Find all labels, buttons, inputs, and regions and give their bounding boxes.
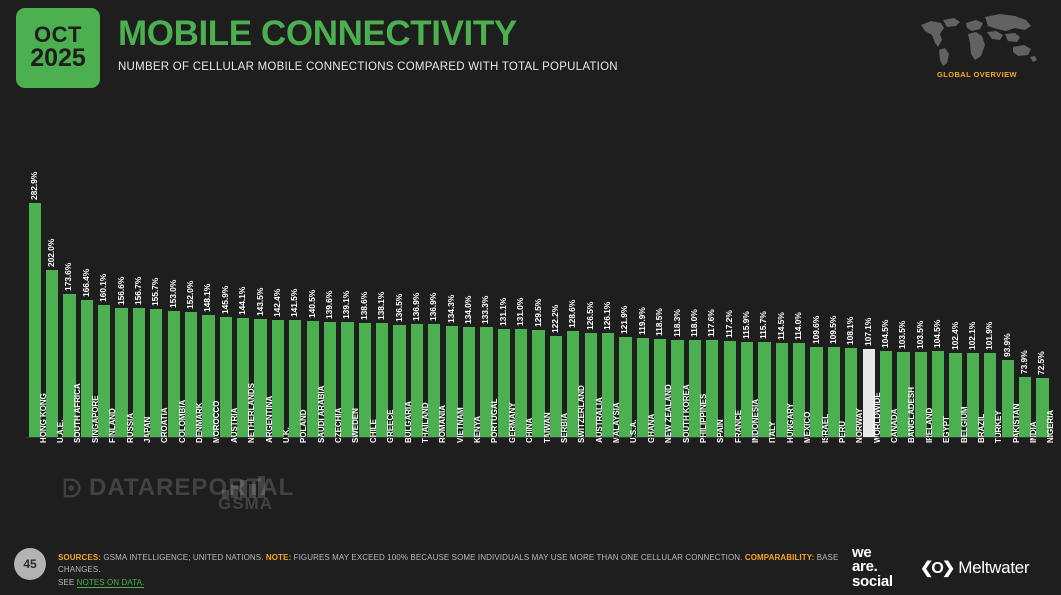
bar-value-label: 115.9% — [741, 311, 751, 339]
bar-slot: 93.9%PAKISTAN — [999, 118, 1016, 438]
bar-value-label: 103.5% — [915, 321, 925, 349]
bar-slot: 142.4%U.K. — [269, 118, 286, 438]
bar-slot: 143.5%ARGENTINA — [252, 118, 269, 438]
bar-slot: 138.1%GREECE — [374, 118, 391, 438]
datareportal-logo-icon — [62, 477, 84, 499]
bar-slot: 141.5%POLAND — [287, 118, 304, 438]
bar-value-label: 115.7% — [758, 311, 768, 339]
bar-value-label: 145.9% — [220, 285, 230, 313]
bar-value-label: 156.6% — [116, 277, 126, 305]
bar-slot: 118.5%NEW ZEALAND — [652, 118, 669, 438]
datareportal-watermark-text: DATAREPORTAL — [89, 474, 294, 502]
bar-value-label: 93.9% — [1002, 333, 1012, 357]
bar-value-label: 72.5% — [1036, 351, 1046, 375]
notes-on-data-link[interactable]: NOTES ON DATA. — [77, 578, 145, 588]
bar-slot: 104.5%EGYPT — [930, 118, 947, 438]
bar-slot: 118.3%SOUTH KOREA — [669, 118, 686, 438]
bar-slot: 114.5%HUNGARY — [773, 118, 790, 438]
bar-slot: 115.7%ITALY — [756, 118, 773, 438]
bar-value-label: 202.0% — [46, 239, 56, 267]
meltwater-mark-icon: ❮O❯ — [920, 558, 953, 578]
bar-slot: 138.6%CHILE — [356, 118, 373, 438]
bar-value-label: 139.6% — [324, 291, 334, 319]
bar-slot: 134.3%VIETNAM — [443, 118, 460, 438]
global-overview-block: GLOBAL OVERVIEW — [907, 8, 1047, 79]
title-block: MOBILE CONNECTIVITY NUMBER OF CELLULAR M… — [118, 16, 618, 73]
bar-slot: 156.6%RUSSIA — [113, 118, 130, 438]
bar-slot: 117.2%FRANCE — [721, 118, 738, 438]
bar-slot: 134.0%KENYA — [460, 118, 477, 438]
bar-value-label: 133.3% — [480, 296, 490, 324]
footnote: SOURCES: GSMA INTELLIGENCE; UNITED NATIO… — [58, 552, 848, 589]
bar-chart-plot: 282.9%HONG KONG202.0%U.A.E.173.6%SOUTH A… — [26, 118, 1051, 438]
bar-slot: 122.2%SERBIA — [547, 118, 564, 438]
bar-slot: 133.3%PORTUGAL — [478, 118, 495, 438]
meltwater-wordmark: Meltwater — [958, 558, 1029, 578]
bar-value-label: 101.9% — [984, 322, 994, 350]
bar-value-label: 108.1% — [845, 317, 855, 345]
bar-slot: 129.5%TAIWAN — [530, 118, 547, 438]
gsma-watermark-bars — [222, 476, 265, 498]
bar-slot: 282.9%HONG KONG — [26, 118, 43, 438]
page-title: MOBILE CONNECTIVITY — [118, 16, 618, 51]
bar-slot: 173.6%SOUTH AFRICA — [61, 118, 78, 438]
bar-value-label: 107.1% — [863, 318, 873, 346]
bar-value-label: 73.9% — [1019, 350, 1029, 374]
bar-value-label: 126.1% — [602, 302, 612, 330]
sources-label: SOURCES: — [58, 553, 101, 562]
bar-value-label: 104.5% — [880, 320, 890, 348]
bar[interactable]: 202.0% — [46, 270, 58, 438]
world-map-icon — [912, 8, 1042, 68]
page-subtitle: NUMBER OF CELLULAR MOBILE CONNECTIONS CO… — [118, 61, 618, 73]
bar-value-label: 114.0% — [793, 312, 803, 340]
bar-slot: 156.7%JAPAN — [130, 118, 147, 438]
bar-slot: 102.1%BRAZIL — [964, 118, 981, 438]
bar-slot: 126.5%AUSTRALIA — [582, 118, 599, 438]
bar-slot: 103.5%IRELAND — [912, 118, 929, 438]
note-label: NOTE: — [266, 553, 291, 562]
bar-value-label: 134.3% — [446, 295, 456, 323]
bar-slot: 140.5%SAUDI ARABIA — [304, 118, 321, 438]
bar-value-label: 117.2% — [724, 310, 734, 338]
bar-value-label: 114.5% — [776, 312, 786, 340]
bar-value-label: 153.0% — [168, 280, 178, 308]
bar-slot: 121.9%U.S.A. — [617, 118, 634, 438]
bar-slot: 103.5%BANGLADESH — [895, 118, 912, 438]
bar-slot: 109.5%PERU — [825, 118, 842, 438]
bar-value-label: 109.6% — [811, 316, 821, 344]
bar-slot: 139.1%SWEDEN — [339, 118, 356, 438]
bar-slot: 145.9%AUSTRIA — [217, 118, 234, 438]
bar-value-label: 131.0% — [515, 298, 525, 326]
bar-slot: 136.9%THAILAND — [408, 118, 425, 438]
datareportal-watermark: DATAREPORTAL — [62, 474, 294, 502]
bar-value-label: 121.9% — [619, 305, 629, 333]
bar-slot: 148.1%MOROCCO — [200, 118, 217, 438]
date-badge-month: OCT — [34, 24, 82, 46]
we-are-social-line-3: social — [852, 575, 893, 589]
footer: 45 SOURCES: GSMA INTELLIGENCE; UNITED NA… — [0, 542, 1061, 595]
bar-value-label: 128.6% — [567, 300, 577, 328]
bar-slot: 115.9%INDONESIA — [738, 118, 755, 438]
bar-slot: 155.7%CROATIA — [148, 118, 165, 438]
bar-value-label: 136.9% — [411, 293, 421, 321]
bar-slot: 102.4%BELGIUM — [947, 118, 964, 438]
bar-value-label: 118.5% — [654, 309, 664, 337]
see-text: SEE — [58, 578, 74, 587]
bar-value-label: 102.4% — [950, 322, 960, 350]
bar-slot: 144.1%NETHERLANDS — [235, 118, 252, 438]
bar-slot: 160.1%FINLAND — [96, 118, 113, 438]
bar-value-label: 148.1% — [202, 284, 212, 312]
bar-value-label: 143.5% — [255, 287, 265, 315]
bar-value-label: 136.9% — [428, 293, 438, 321]
bar-value-label: 104.5% — [932, 320, 942, 348]
bar-value-label: 126.5% — [585, 302, 595, 330]
bar-value-label: 131.1% — [498, 298, 508, 326]
bar-category-label: NIGERIA — [1046, 410, 1055, 443]
bar-slot: 128.6%SWITZERLAND — [565, 118, 582, 438]
bar-value-label: 282.9% — [29, 172, 39, 200]
chart-baseline — [26, 437, 1051, 438]
bar-value-label: 155.7% — [150, 277, 160, 305]
bar-value-label: 138.1% — [376, 292, 386, 320]
bar-slot: 153.0%COLOMBIA — [165, 118, 182, 438]
bar-value-label: 119.9% — [637, 308, 647, 336]
bar-value-label: 144.1% — [237, 287, 247, 315]
bar-slot: 152.0%DENMARK — [182, 118, 199, 438]
bar-slot: 117.6%SPAIN — [704, 118, 721, 438]
bar-slot: 118.0%PHILIPPINES — [686, 118, 703, 438]
bar-slot: 139.6%CZECHIA — [321, 118, 338, 438]
bar-value-label: 141.5% — [289, 289, 299, 317]
header: OCT 2025 MOBILE CONNECTIVITY NUMBER OF C… — [0, 0, 1061, 96]
bar-value-label: 109.5% — [828, 316, 838, 344]
bar-value-label: 118.0% — [689, 309, 699, 337]
bar-slot: 72.5%NIGERIA — [1034, 118, 1051, 438]
bar-value-label: 136.5% — [394, 293, 404, 321]
bar-value-label: 103.5% — [897, 321, 907, 349]
bar[interactable]: 142.4% — [272, 320, 284, 438]
bar-value-label: 134.0% — [463, 295, 473, 323]
bar-slot: 166.4%SINGAPORE — [78, 118, 95, 438]
bar-value-label: 102.1% — [967, 322, 977, 350]
bar-value-label: 117.6% — [706, 309, 716, 337]
bar-slot: 131.0%CHINA — [513, 118, 530, 438]
bar-value-label: 118.3% — [672, 309, 682, 337]
bar-slot: 107.1%WORLDWIDE — [860, 118, 877, 438]
bar-value-label: 160.1% — [98, 274, 108, 302]
sources-text: GSMA INTELLIGENCE; UNITED NATIONS. — [103, 553, 263, 562]
page-number-badge: 45 — [14, 548, 46, 580]
bar-value-label: 156.7% — [133, 277, 143, 305]
bar-value-label: 138.6% — [359, 292, 369, 320]
bar-slot: 119.9%GHANA — [634, 118, 651, 438]
bar-slot: 101.9%TURKEY — [982, 118, 999, 438]
gsma-watermark-text: GSMA — [218, 494, 273, 514]
date-badge-year: 2025 — [30, 46, 86, 72]
bar-slot: 73.9%INDIA — [1016, 118, 1033, 438]
bar-slot: 136.5%BULGARIA — [391, 118, 408, 438]
comparability-label: COMPARABILITY: — [745, 553, 815, 562]
bar-value-label: 173.6% — [63, 262, 73, 290]
bar-value-label: 152.0% — [185, 280, 195, 308]
bar-value-label: 129.5% — [533, 299, 543, 327]
note-text: FIGURES MAY EXCEED 100% BECAUSE SOME IND… — [294, 553, 743, 562]
meltwater-logo: ❮O❯ Meltwater — [920, 558, 1029, 578]
bar-value-label: 140.5% — [307, 290, 317, 318]
date-badge: OCT 2025 — [16, 8, 100, 88]
bar-slot: 114.0%MEXICO — [791, 118, 808, 438]
bar-slot: 136.9%ROMANIA — [426, 118, 443, 438]
bar-value-label: 142.4% — [272, 288, 282, 316]
bar-value-label: 139.1% — [341, 291, 351, 319]
bar-slot: 131.1%GERMANY — [495, 118, 512, 438]
bar-slot: 104.5%CANADA — [877, 118, 894, 438]
bar-slot: 126.1%MALAYSIA — [599, 118, 616, 438]
global-overview-label: GLOBAL OVERVIEW — [907, 70, 1047, 79]
we-are-social-logo: we are. social — [852, 546, 893, 589]
bar-value-label: 166.4% — [81, 268, 91, 296]
bar-value-label: 122.2% — [550, 305, 560, 333]
bar-slot: 108.1%NORWAY — [843, 118, 860, 438]
bar-slot: 202.0%U.A.E. — [43, 118, 60, 438]
bar-slot: 109.6%ISRAEL — [808, 118, 825, 438]
chart-area: 282.9%HONG KONG202.0%U.A.E.173.6%SOUTH A… — [0, 96, 1061, 542]
